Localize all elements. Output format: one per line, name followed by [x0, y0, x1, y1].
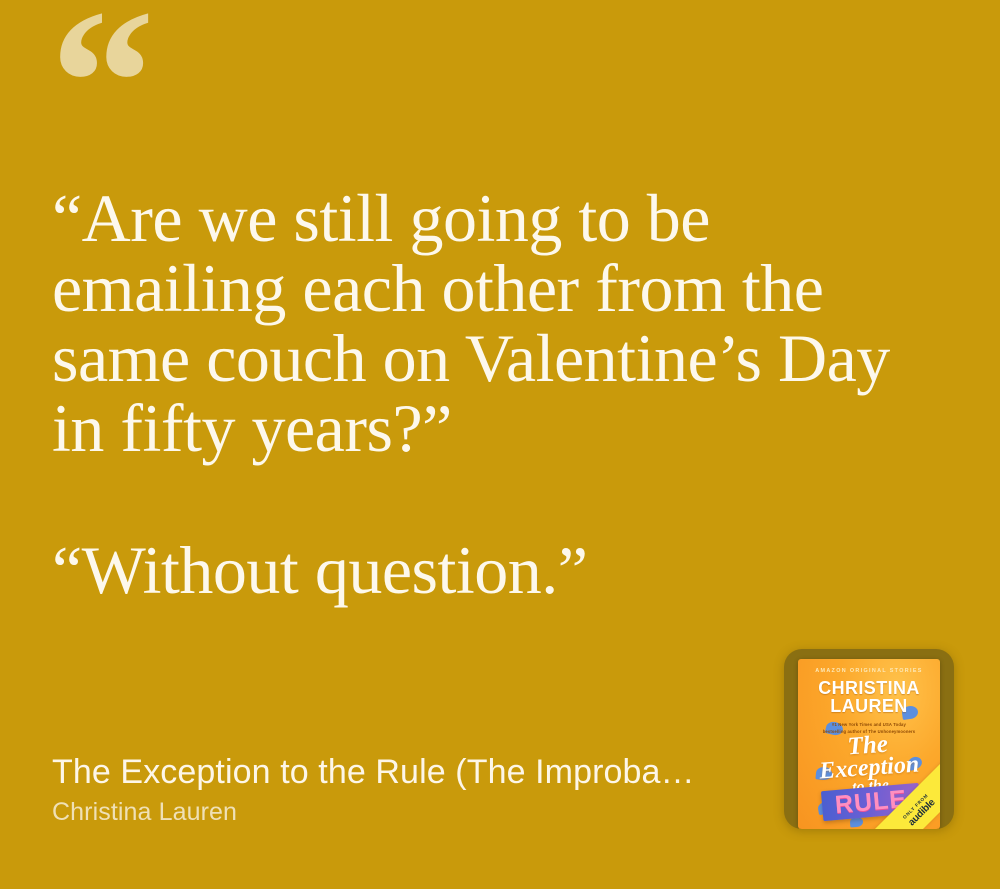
quote-body: “Are we still going to be emailing each …: [52, 183, 932, 605]
book-meta: The Exception to the Rule (The Improba… …: [52, 752, 752, 827]
cover-author-name: CHRISTINA LAUREN: [798, 679, 940, 716]
quote-paragraph-2: “Without question.”: [52, 535, 932, 605]
cover-author-line-2: LAUREN: [830, 696, 907, 716]
book-author: Christina Lauren: [52, 797, 752, 827]
cover-blurb-line-1: #1 New York Times and USA Today: [832, 722, 906, 727]
quote-paragraph-1: “Are we still going to be emailing each …: [52, 183, 932, 463]
decorative-open-quote-icon: “: [50, 0, 151, 188]
quote-share-card: “ “Are we still going to be emailing eac…: [0, 0, 1000, 889]
cover-author-line-1: CHRISTINA: [818, 678, 920, 698]
book-cover-thumbnail[interactable]: AMAZON ORIGINAL STORIES CHRISTINA LAUREN…: [784, 649, 954, 829]
book-cover-art: AMAZON ORIGINAL STORIES CHRISTINA LAUREN…: [798, 659, 940, 829]
cover-imprint-label: AMAZON ORIGINAL STORIES: [798, 668, 940, 674]
book-title: The Exception to the Rule (The Improba…: [52, 752, 752, 792]
